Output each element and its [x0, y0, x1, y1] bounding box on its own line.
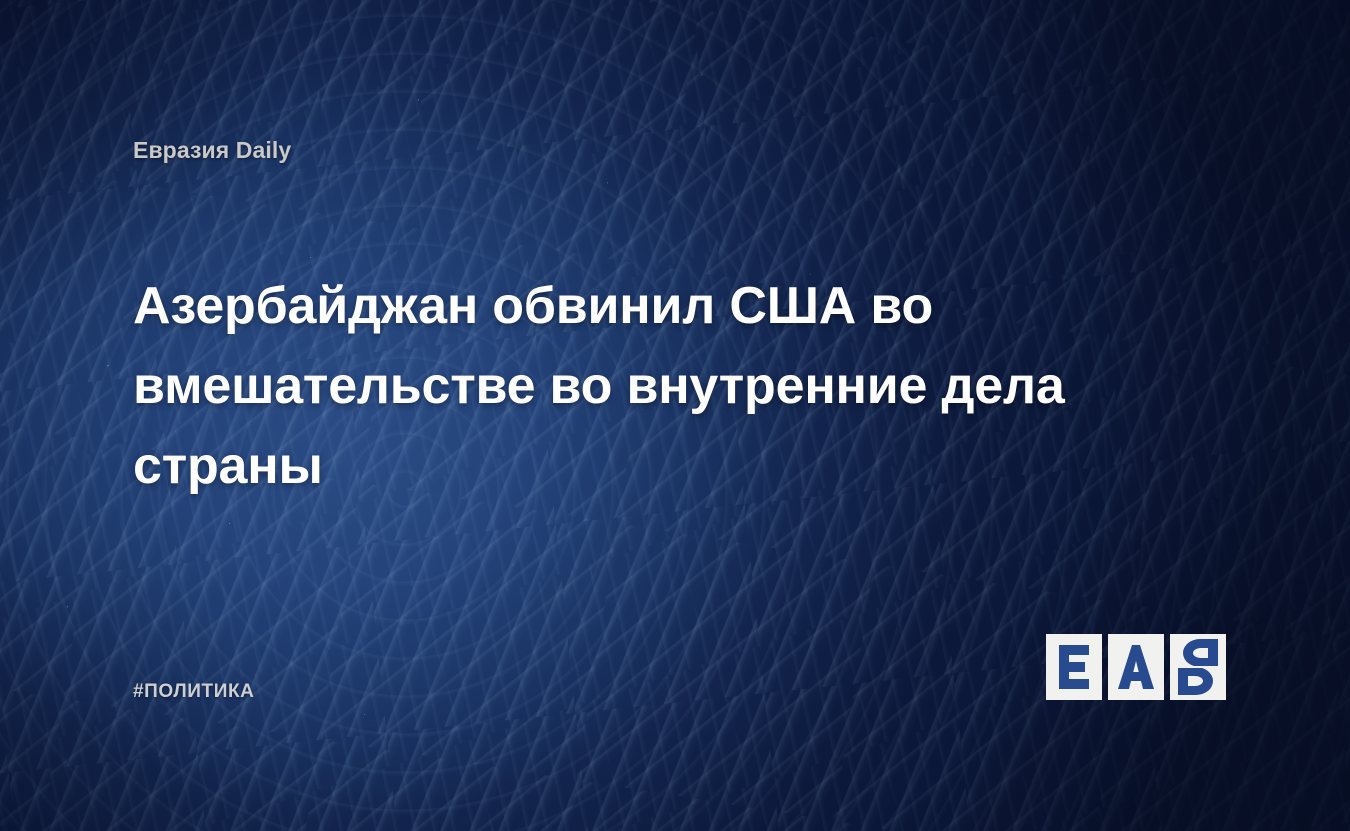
rubric-tag-politics: #ПОЛИТИКА [133, 681, 255, 703]
site-logo-text: Евразия Daily [133, 137, 291, 164]
card-content: Евразия Daily Азербайджан обвинил США во… [0, 0, 1350, 831]
ead-tile-d-split [1170, 634, 1226, 700]
news-card: Евразия Daily Азербайджан обвинил США во… [0, 0, 1350, 831]
ead-brand-logo [1046, 634, 1226, 700]
ead-tile-a [1108, 634, 1164, 700]
headline: Азербайджан обвинил США во вмешательстве… [133, 266, 1198, 506]
ead-tile-e [1046, 634, 1102, 700]
